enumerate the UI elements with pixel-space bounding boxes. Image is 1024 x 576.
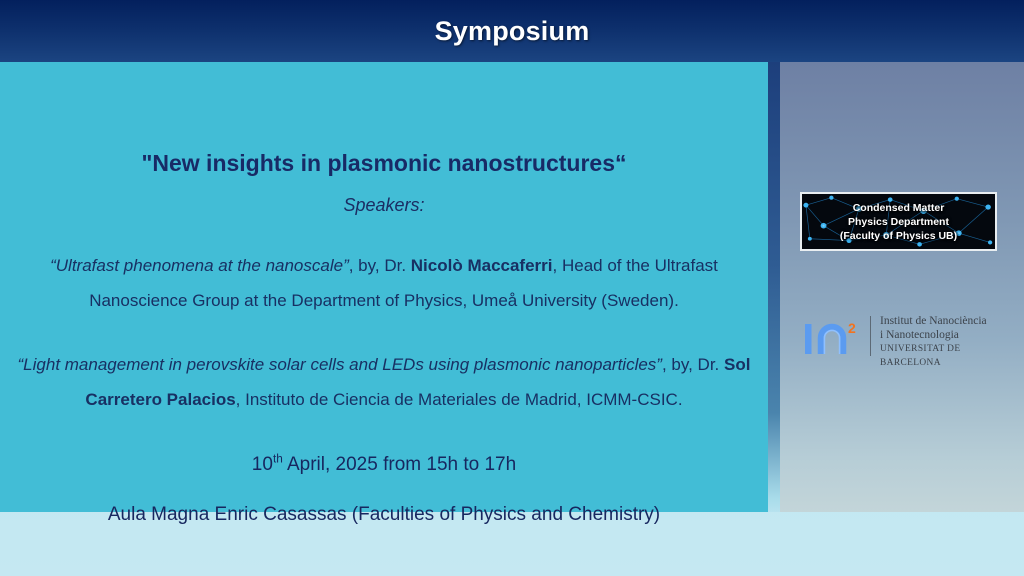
event-venue: Aula Magna Enric Casassas (Faculties of … <box>0 504 768 526</box>
speakers-label: Speakers: <box>0 195 768 216</box>
event-date-ordinal: th <box>273 453 283 466</box>
in2-logo-line3: UNIVERSITAT DE BARCELONA <box>880 342 1004 370</box>
header-bar: Symposium <box>0 0 1024 62</box>
speaker-1-talk-title: “Ultrafast phenomena at the nanoscale” <box>50 256 349 275</box>
speaker-1-byline: , by, Dr. <box>349 256 411 275</box>
in2-logo: 2 Institut de Nanociència i Nanotecnolog… <box>802 312 1002 364</box>
page-title: Symposium <box>0 0 1024 62</box>
content-panel: "New insights in plasmonic nanostructure… <box>0 62 768 512</box>
speaker-1-name: Nicolò Maccaferri <box>411 256 553 275</box>
department-banner-text: Condensed Matter Physics Department (Fac… <box>802 194 995 249</box>
event-date: 10th April, 2025 from 15h to 17h <box>0 454 768 476</box>
event-date-rest: April, 2025 from 15h to 17h <box>283 454 516 475</box>
speaker-entry-1: “Ultrafast phenomena at the nanoscale”, … <box>0 248 768 318</box>
department-banner-line1: Condensed Matter <box>853 201 945 215</box>
in2-monogram-icon: 2 <box>802 314 864 358</box>
department-banner: Condensed Matter Physics Department (Fac… <box>800 192 997 251</box>
speaker-2-byline: , by, Dr. <box>662 355 724 374</box>
slide-canvas: Symposium "New insights in plasmonic nan… <box>0 0 1024 576</box>
department-banner-line2: Physics Department <box>848 215 949 229</box>
in2-logo-line1: Institut de Nanociència <box>880 314 1004 328</box>
event-date-day: 10 <box>252 454 273 475</box>
sidebar <box>780 62 1024 512</box>
speaker-entry-2: “Light management in perovskite solar ce… <box>0 347 768 417</box>
speaker-2-talk-title: “Light management in perovskite solar ce… <box>18 355 662 374</box>
in2-logo-line2: i Nanotecnologia <box>880 328 1004 342</box>
in2-logo-wordmark: Institut de Nanociència i Nanotecnologia… <box>880 314 1004 370</box>
svg-text:2: 2 <box>848 320 856 336</box>
department-banner-line3: (Faculty of Physics UB) <box>840 229 957 243</box>
talk-title: "New insights in plasmonic nanostructure… <box>0 150 768 177</box>
speaker-2-affiliation: , Instituto de Ciencia de Materiales de … <box>236 390 683 409</box>
logo-divider <box>870 316 871 356</box>
panel-divider <box>768 62 780 512</box>
